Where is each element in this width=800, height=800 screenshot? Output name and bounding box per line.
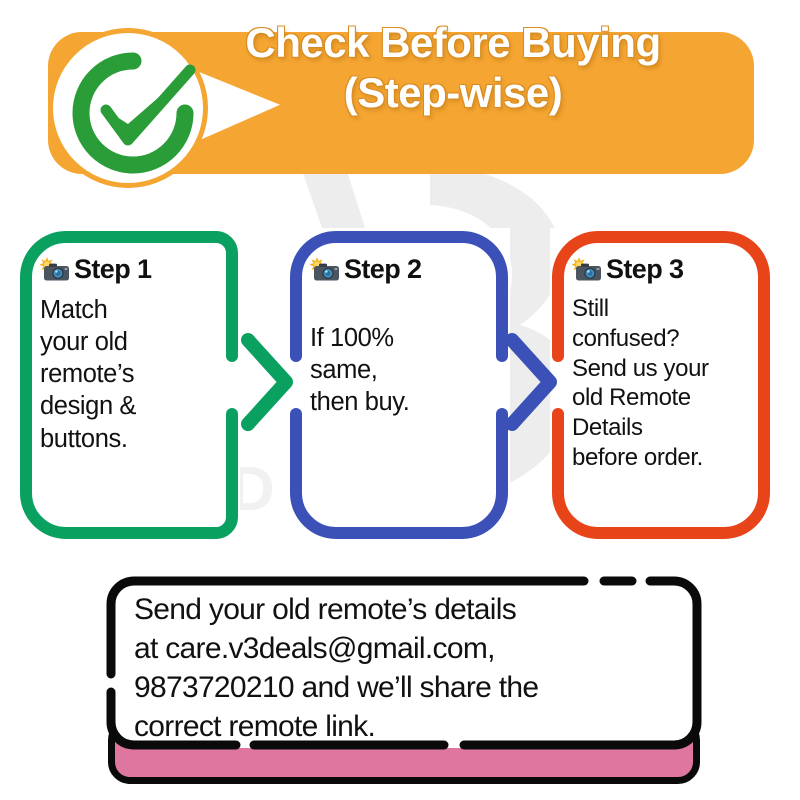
- step-card-2[interactable]: Step 2 If 100% same, then buy.: [288, 228, 510, 542]
- page-title: Check Before Buying (Step-wise): [208, 18, 698, 117]
- title-line-2: (Step-wise): [208, 68, 698, 118]
- step-card-1[interactable]: Step 1 Match your old remote’s design & …: [18, 228, 240, 542]
- callout-line-2: at care.v3deals@gmail.com,: [134, 629, 682, 668]
- step-3-body: Still confused? Send us your old Remote …: [572, 294, 754, 473]
- step-1-line-2: your old: [40, 328, 128, 356]
- step-2-line-2: same,: [310, 356, 377, 384]
- step-3-line-4: old Remote: [572, 384, 691, 411]
- camera-with-flash-icon: [310, 256, 340, 282]
- callout-line-3: 9873720210 and we’ll share the: [134, 668, 682, 707]
- step-2-label: Step 2: [344, 254, 421, 285]
- step-3-line-5: Details: [572, 414, 643, 441]
- step-1-line-3: remote’s: [40, 360, 134, 388]
- step-1-heading: Step 1: [40, 250, 222, 288]
- step-2-body: If 100% same, then buy.: [310, 322, 492, 418]
- infographic-canvas: DEALS Check Before Buying (Step-wise): [0, 0, 800, 800]
- step-1-label: Step 1: [74, 254, 151, 285]
- step-3-line-1: Still: [572, 295, 609, 322]
- step-3-line-3: Send us your: [572, 355, 709, 382]
- step-3-label: Step 3: [606, 254, 683, 285]
- step-1-line-5: buttons.: [40, 425, 128, 453]
- contact-callout[interactable]: Send your old remote’s details at care.v…: [108, 578, 700, 748]
- step-1-line-1: Match: [40, 296, 107, 324]
- step-2-heading: Step 2: [310, 250, 492, 288]
- step-2-line-1: If 100%: [310, 324, 394, 352]
- step-2-line-3: then buy.: [310, 388, 409, 416]
- step-card-3[interactable]: Step 3 Still confused? Send us your old …: [550, 228, 772, 542]
- step-card-3-content: Step 3 Still confused? Send us your old …: [572, 250, 754, 522]
- green-check-circle-icon: [48, 28, 208, 188]
- chevron-right-icon-2: [500, 330, 564, 434]
- callout-line-4: correct remote link.: [134, 707, 682, 746]
- step-1-line-4: design &: [40, 392, 136, 420]
- callout-message: Send your old remote’s details at care.v…: [134, 590, 682, 746]
- step-3-line-6: before order.: [572, 444, 703, 471]
- step-1-body: Match your old remote’s design & buttons…: [40, 294, 222, 455]
- chevron-right-icon-1: [236, 330, 300, 434]
- camera-with-flash-icon: [40, 256, 70, 282]
- step-card-1-content: Step 1 Match your old remote’s design & …: [40, 250, 222, 522]
- callout-line-1: Send your old remote’s details: [134, 590, 682, 629]
- step-card-2-content: Step 2 If 100% same, then buy.: [310, 250, 492, 522]
- step-3-line-2: confused?: [572, 325, 679, 352]
- title-line-1: Check Before Buying: [208, 18, 698, 68]
- step-3-heading: Step 3: [572, 250, 754, 288]
- camera-with-flash-icon: [572, 256, 602, 282]
